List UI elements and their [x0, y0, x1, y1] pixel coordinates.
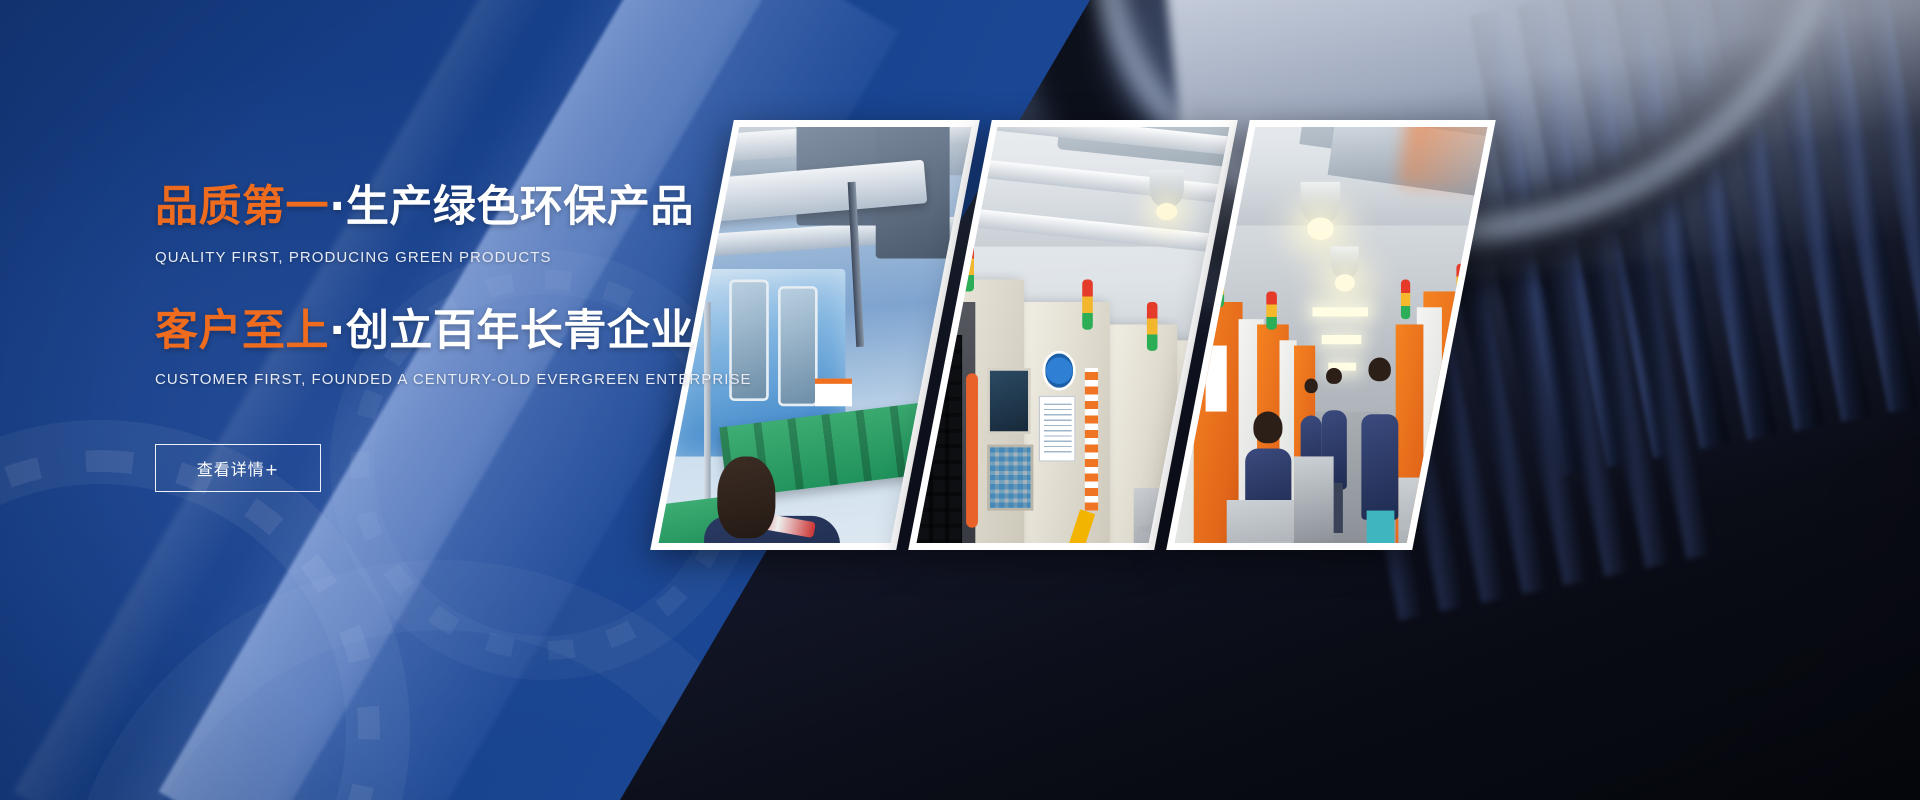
headline-secondary-separator: ·: [329, 306, 346, 356]
hero-banner: 品质第一·生产绿色环保产品 QUALITY FIRST, PRODUCING G…: [0, 0, 1920, 800]
subtitle-primary: QUALITY FIRST, PRODUCING GREEN PRODUCTS: [155, 249, 835, 266]
headline-primary-rest: 生产绿色环保产品: [346, 182, 694, 232]
headline-secondary-accent: 客户至上: [155, 306, 329, 356]
headline-secondary: 客户至上·创立百年长青企业: [155, 310, 835, 353]
subtitle-secondary: CUSTOMER FIRST, FOUNDED A CENTURY-OLD EV…: [155, 371, 835, 388]
banner-content: 品质第一·生产绿色环保产品 QUALITY FIRST, PRODUCING G…: [155, 186, 835, 492]
headline-primary-separator: ·: [329, 182, 346, 232]
headline-primary: 品质第一·生产绿色环保产品: [155, 186, 835, 229]
headline-primary-accent: 品质第一: [155, 182, 329, 232]
view-details-button[interactable]: 查看详情+: [155, 444, 321, 492]
headline-secondary-rest: 创立百年长青企业: [346, 306, 694, 356]
